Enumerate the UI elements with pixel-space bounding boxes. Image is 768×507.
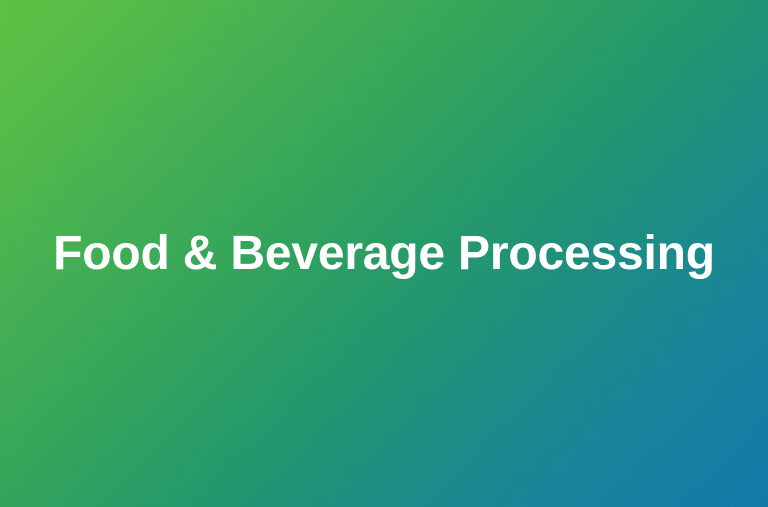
page-title: Food & Beverage Processing bbox=[40, 228, 728, 280]
hero-content: Food & Beverage Processing bbox=[0, 228, 768, 280]
hero-banner: Food & Beverage Processing bbox=[0, 0, 768, 507]
